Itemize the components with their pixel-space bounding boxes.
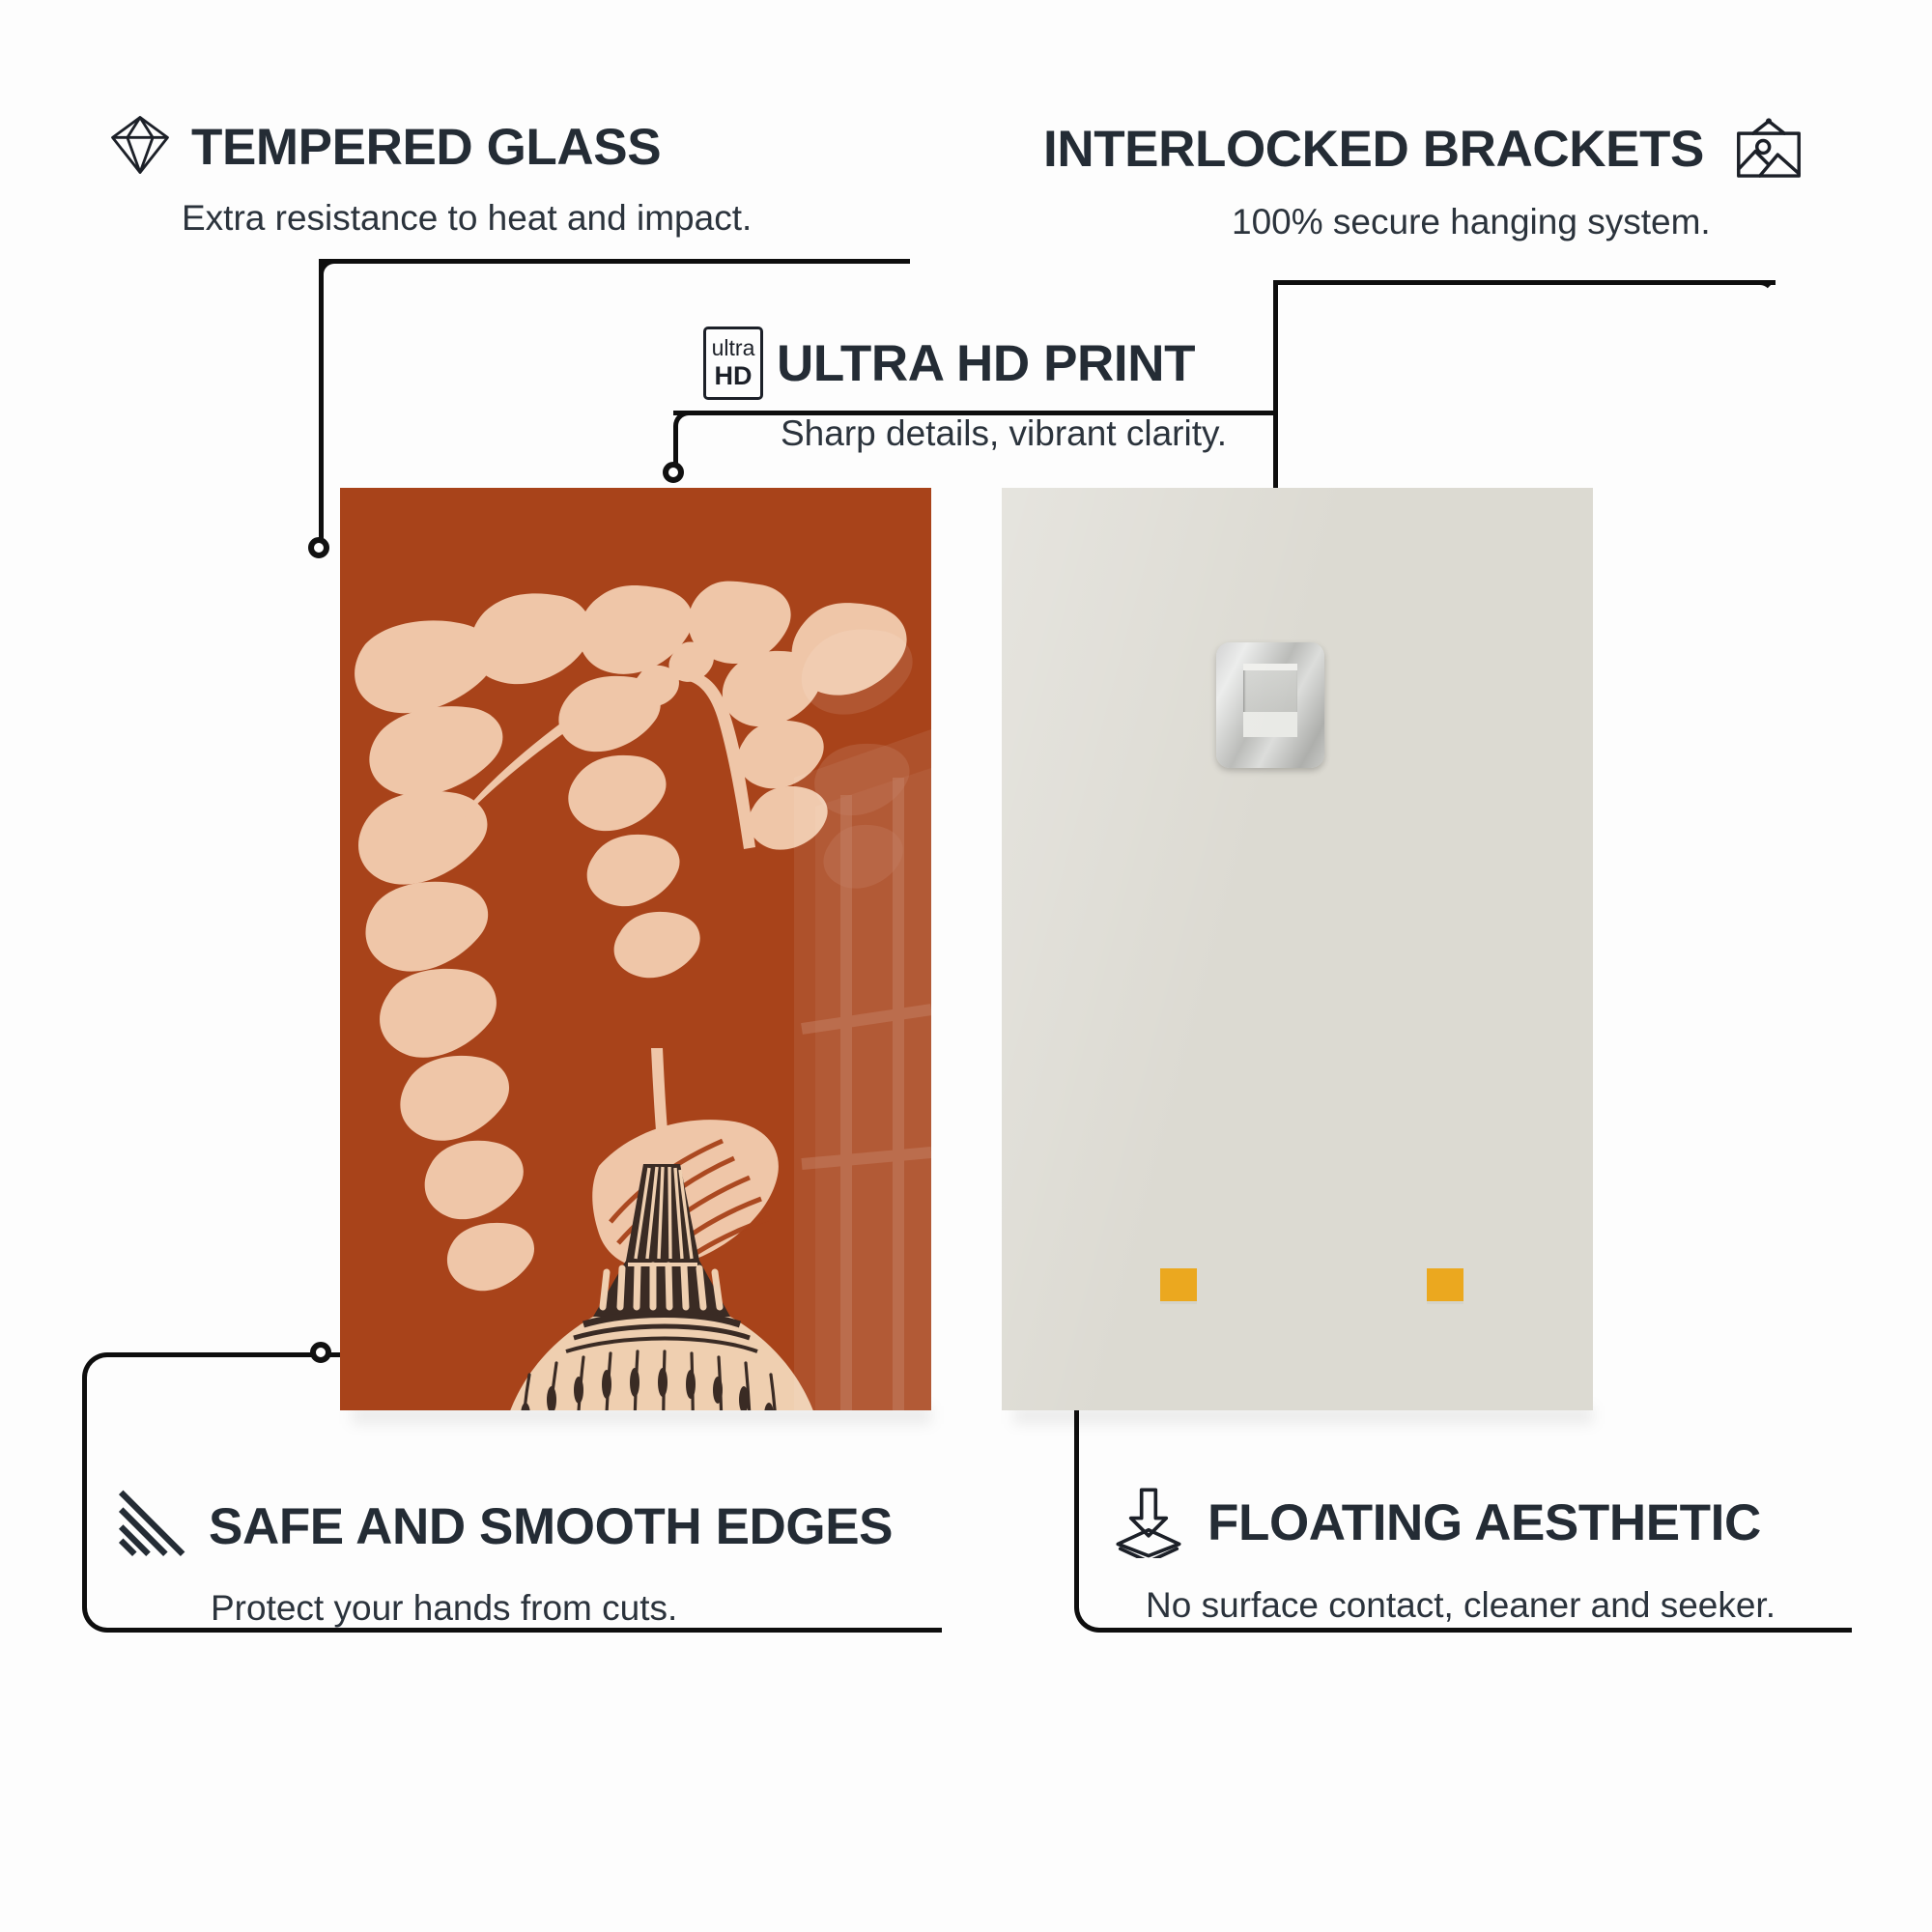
- artwork-panel: [340, 488, 931, 1410]
- callout-line-floating-underline: [1229, 1628, 1852, 1633]
- feature-subtitle: Extra resistance to heat and impact.: [182, 199, 752, 239]
- feature-subtitle: 100% secure hanging system.: [1232, 203, 1804, 242]
- beveled-edge-hatch-icon: [114, 1488, 187, 1566]
- feature-floating-aesthetic: FLOATING AESTHETIC No surface contact, c…: [1111, 1483, 1776, 1626]
- feature-subtitle: Sharp details, vibrant clarity.: [781, 414, 1227, 454]
- callout-dot-safe-edges: [310, 1342, 331, 1363]
- feature-title: INTERLOCKED BRACKETS: [1043, 124, 1704, 175]
- feature-title: TEMPERED GLASS: [191, 122, 661, 173]
- bracket-slot: [1243, 664, 1297, 737]
- feature-ultra-hd-print: ultra HD ULTRA HD PRINT Sharp details, v…: [703, 327, 1227, 454]
- interlocked-hanging-bracket: [1216, 642, 1324, 768]
- callout-dot-tempered-glass: [308, 537, 329, 558]
- ultra-hd-badge-top: ultra: [712, 337, 755, 359]
- callout-line-safe-edges-underline: [343, 1628, 942, 1633]
- feature-title: ULTRA HD PRINT: [777, 338, 1195, 389]
- callout-dot-ultrahd-print: [663, 462, 684, 483]
- feature-title: FLOATING AESTHETIC: [1207, 1497, 1761, 1548]
- ultra-hd-badge-icon: ultra HD: [703, 327, 763, 400]
- callout-line-tempered-glass: [319, 259, 910, 264]
- diamond-icon: [106, 111, 174, 184]
- ceramic-vase: [497, 1048, 825, 1410]
- feature-subtitle: No surface contact, cleaner and seeker.: [1146, 1586, 1776, 1626]
- feature-safe-and-smooth-edges: SAFE AND SMOOTH EDGES Protect your hands…: [114, 1488, 893, 1629]
- callout-line-interlocked-top: [1273, 280, 1776, 285]
- arrow-down-onto-layers-icon: [1111, 1483, 1186, 1563]
- feature-title: SAFE AND SMOOTH EDGES: [209, 1501, 893, 1552]
- feature-subtitle: Protect your hands from cuts.: [211, 1589, 893, 1629]
- feature-tempered-glass: TEMPERED GLASS Extra resistance to heat …: [106, 111, 752, 239]
- hanging-picture-frame-icon: [1733, 111, 1804, 187]
- glass-panel-back: [1002, 488, 1593, 1410]
- adhesive-pad-right: [1427, 1268, 1463, 1301]
- feature-interlocked-brackets: INTERLOCKED BRACKETS 100% secure hanging…: [1043, 111, 1804, 242]
- ultra-hd-badge-bottom: HD: [715, 363, 753, 389]
- adhesive-pad-left: [1160, 1268, 1197, 1301]
